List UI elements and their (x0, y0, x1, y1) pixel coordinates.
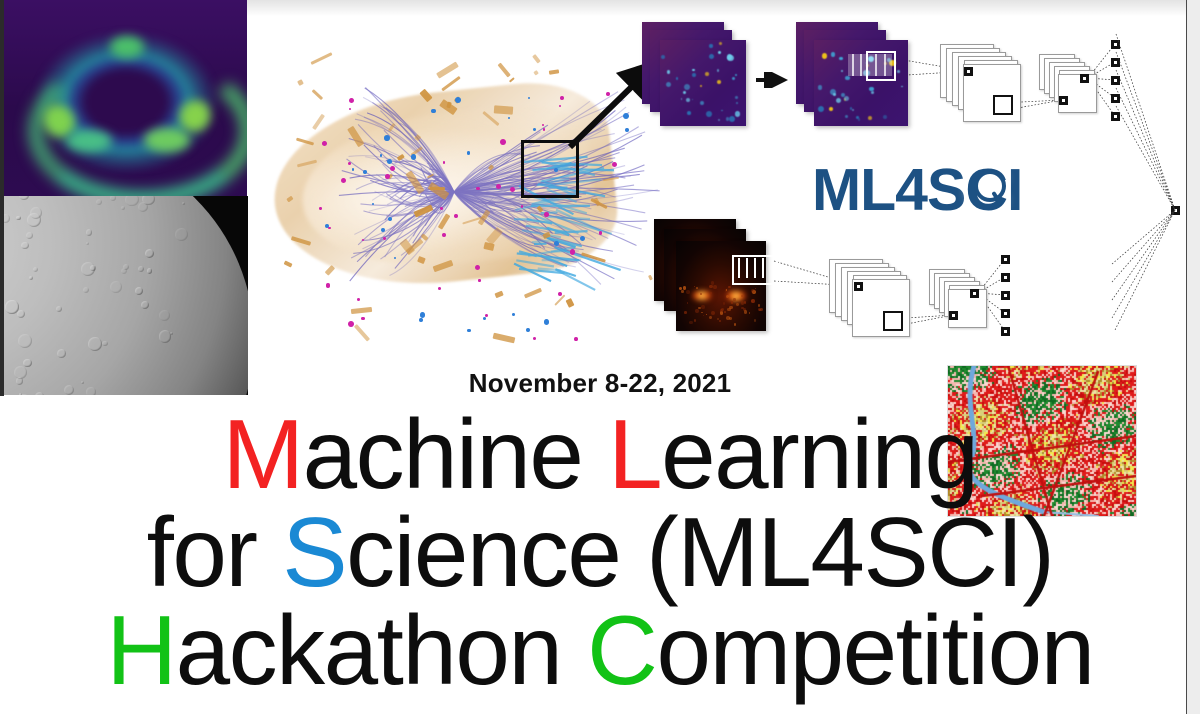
title-segment-2-3: ompetition (656, 595, 1093, 705)
title-line-2: for Science (ML4SCI) (0, 503, 1200, 602)
tracker-hit (528, 97, 530, 99)
crater (18, 334, 32, 348)
noise-pixel (726, 316, 730, 320)
tracker-hit (385, 174, 390, 179)
noise-pixel (744, 310, 748, 314)
source-detection (692, 73, 696, 77)
noise-pixel (684, 311, 687, 314)
noise-pixel (719, 320, 721, 322)
source-detection (686, 98, 690, 102)
source-detection (666, 82, 671, 87)
source-detection (735, 74, 737, 76)
tracker-hit (362, 239, 364, 241)
title-segment-0-2: L (608, 399, 661, 509)
source-detection (700, 85, 702, 87)
crater (17, 310, 26, 319)
title-segment-0-3: earning (661, 399, 977, 509)
event-date: November 8-22, 2021 (0, 368, 1200, 399)
noise-pixel (729, 306, 732, 309)
tracker-hit (544, 319, 550, 325)
source-detection (692, 99, 694, 101)
source-detection (735, 96, 738, 99)
title-segment-1-0: for (147, 497, 283, 607)
source-detection (719, 42, 722, 45)
energy-deposit (726, 291, 746, 301)
source-detection (661, 55, 665, 59)
tracker-hit (322, 142, 325, 145)
crater (26, 232, 33, 239)
ml4sci-logo: ML4SCI (812, 156, 1022, 224)
crater (102, 341, 107, 346)
tracker-hit (348, 321, 354, 327)
crater (182, 202, 185, 205)
source-detection (718, 119, 720, 121)
source-detection (897, 70, 900, 73)
tracker-hit (500, 139, 506, 145)
source-detection (833, 93, 836, 96)
title-segment-2-1: ackathon (176, 595, 587, 705)
tracker-hit (387, 159, 392, 164)
noise-pixel (734, 323, 737, 326)
noise-pixel (706, 314, 708, 316)
crater (96, 199, 102, 205)
crater (33, 267, 38, 272)
source-detection (687, 111, 691, 115)
crater (29, 276, 34, 281)
tracker-hit (467, 329, 470, 332)
noise-pixel (744, 301, 747, 304)
mercury-surface-image (4, 196, 248, 395)
tracker-hit (394, 257, 396, 259)
noise-pixel (686, 290, 690, 294)
source-detection (709, 44, 712, 47)
source-detection (883, 115, 887, 119)
tracker-hit (574, 337, 578, 341)
source-detection (871, 91, 874, 94)
tracker-hit (475, 265, 480, 270)
noise-pixel (709, 285, 712, 288)
source-detection (709, 54, 714, 59)
title-segment-1-1: S (282, 497, 346, 607)
crater (121, 206, 125, 210)
source-detection (901, 86, 903, 88)
source-detection (844, 96, 849, 101)
noise-pixel (696, 287, 698, 289)
source-detection (692, 69, 695, 72)
source-detection (727, 55, 733, 61)
source-detection (845, 115, 848, 118)
source-detection (831, 52, 836, 57)
crater (4, 214, 10, 223)
ml4sci-logo-text-after: I (1007, 157, 1022, 223)
tracker-hit (580, 236, 585, 241)
title-segment-0-1: achine (303, 399, 609, 509)
noise-pixel (703, 315, 704, 316)
source-detection (818, 106, 824, 112)
source-detection (683, 91, 687, 95)
tracker-hit (510, 187, 515, 192)
source-detection (706, 111, 712, 117)
noise-pixel (733, 298, 736, 301)
tracker-hit (319, 207, 321, 209)
source-detection (717, 80, 721, 84)
tracker-hit (419, 318, 423, 322)
tracker-hit (380, 154, 383, 157)
tracker-hit (443, 161, 446, 164)
crater (19, 196, 29, 200)
crater (145, 249, 154, 258)
crater (138, 202, 149, 213)
crater (57, 349, 66, 358)
cnn-step-arrow (754, 72, 788, 88)
source-detection (667, 70, 670, 73)
source-detection (717, 69, 720, 72)
crater (56, 306, 62, 312)
crater (90, 265, 96, 271)
magnifier-c-group: C (965, 156, 1007, 224)
tracker-hit (612, 162, 617, 167)
cnn-diagram-detector (648, 215, 1200, 345)
crater (138, 266, 144, 272)
crater (16, 216, 21, 221)
noise-pixel (749, 312, 751, 314)
source-detection (718, 51, 721, 54)
source-detection (836, 98, 841, 103)
crater (147, 268, 153, 274)
ml4sci-logo-text-before: ML4S (812, 157, 965, 223)
source-detection (858, 118, 860, 120)
crater (86, 229, 93, 236)
noise-pixel (759, 309, 761, 311)
tracker-hit (383, 237, 386, 240)
title-segment-2-2: C (587, 595, 656, 705)
right-edge-fill (1187, 0, 1200, 714)
noise-pixel (701, 312, 702, 313)
source-detection (736, 112, 738, 114)
title-line-1: Machine Learning (0, 405, 1200, 504)
noise-pixel (736, 303, 739, 306)
title-segment-2-0: H (106, 595, 175, 705)
tracker-hit (543, 128, 546, 131)
noise-pixel (711, 311, 715, 315)
crater (141, 301, 149, 309)
noise-pixel (723, 302, 726, 305)
source-detection (700, 101, 704, 105)
title-line-3: Hackathon Competition (0, 601, 1200, 700)
source-detection (818, 85, 822, 89)
source-detection (705, 72, 709, 76)
noise-pixel (724, 311, 726, 313)
noise-pixel (758, 304, 760, 306)
noise-pixel (683, 286, 686, 289)
source-detection (676, 77, 678, 79)
crater (159, 330, 172, 343)
crater (110, 196, 116, 201)
protoplanetary-disk-image (4, 0, 247, 196)
source-detection (869, 87, 873, 91)
noise-pixel (711, 281, 714, 284)
poster-canvas: ML4SCI November 8-22, 2021 Machine Learn… (0, 0, 1200, 714)
crater (23, 359, 31, 367)
source-detection (822, 53, 828, 59)
noise-pixel (687, 302, 688, 303)
tracker-hit (361, 317, 364, 320)
noise-pixel (713, 285, 717, 289)
noise-pixel (754, 319, 756, 321)
noise-pixel (695, 309, 699, 313)
noise-pixel (728, 286, 730, 288)
crater (110, 281, 122, 293)
crater (86, 242, 89, 245)
tracker-hit (352, 168, 354, 170)
source-detection (868, 116, 872, 120)
calorimeter-deposit (494, 105, 513, 114)
source-detection (736, 102, 738, 104)
noise-pixel (741, 295, 743, 297)
source-detection (839, 57, 842, 60)
right-edge-line (1186, 0, 1187, 714)
crater (135, 287, 143, 295)
tracker-hit (384, 135, 390, 141)
source-detection (732, 77, 735, 80)
source-detection (721, 110, 723, 112)
noise-pixel (681, 290, 683, 292)
crater (123, 264, 129, 270)
tracker-hit (326, 283, 331, 288)
crater (175, 228, 188, 241)
source-detection (852, 109, 854, 111)
tracker-hit (478, 279, 480, 281)
source-detection (845, 76, 850, 81)
source-detection (829, 107, 833, 111)
noise-pixel (751, 299, 755, 303)
title-segment-0-0: M (222, 399, 302, 509)
noise-pixel (709, 316, 712, 319)
noise-pixel (701, 305, 705, 309)
noise-pixel (689, 321, 692, 324)
source-detection (729, 116, 735, 122)
tracker-hit (341, 178, 346, 183)
crater (83, 287, 90, 294)
tracker-hit (533, 128, 536, 131)
crater (159, 310, 171, 322)
source-detection (681, 98, 683, 100)
noise-pixel (694, 319, 697, 322)
tracker-hit (544, 212, 548, 216)
noise-pixel (726, 289, 727, 290)
crater (125, 196, 138, 206)
source-detection (684, 84, 690, 90)
source-detection (841, 70, 844, 73)
crater (88, 337, 102, 351)
noise-pixel (731, 301, 734, 304)
title-segment-1-2: cience (ML4SCI) (346, 497, 1053, 607)
tracker-hit (363, 170, 367, 174)
crater (21, 242, 29, 250)
